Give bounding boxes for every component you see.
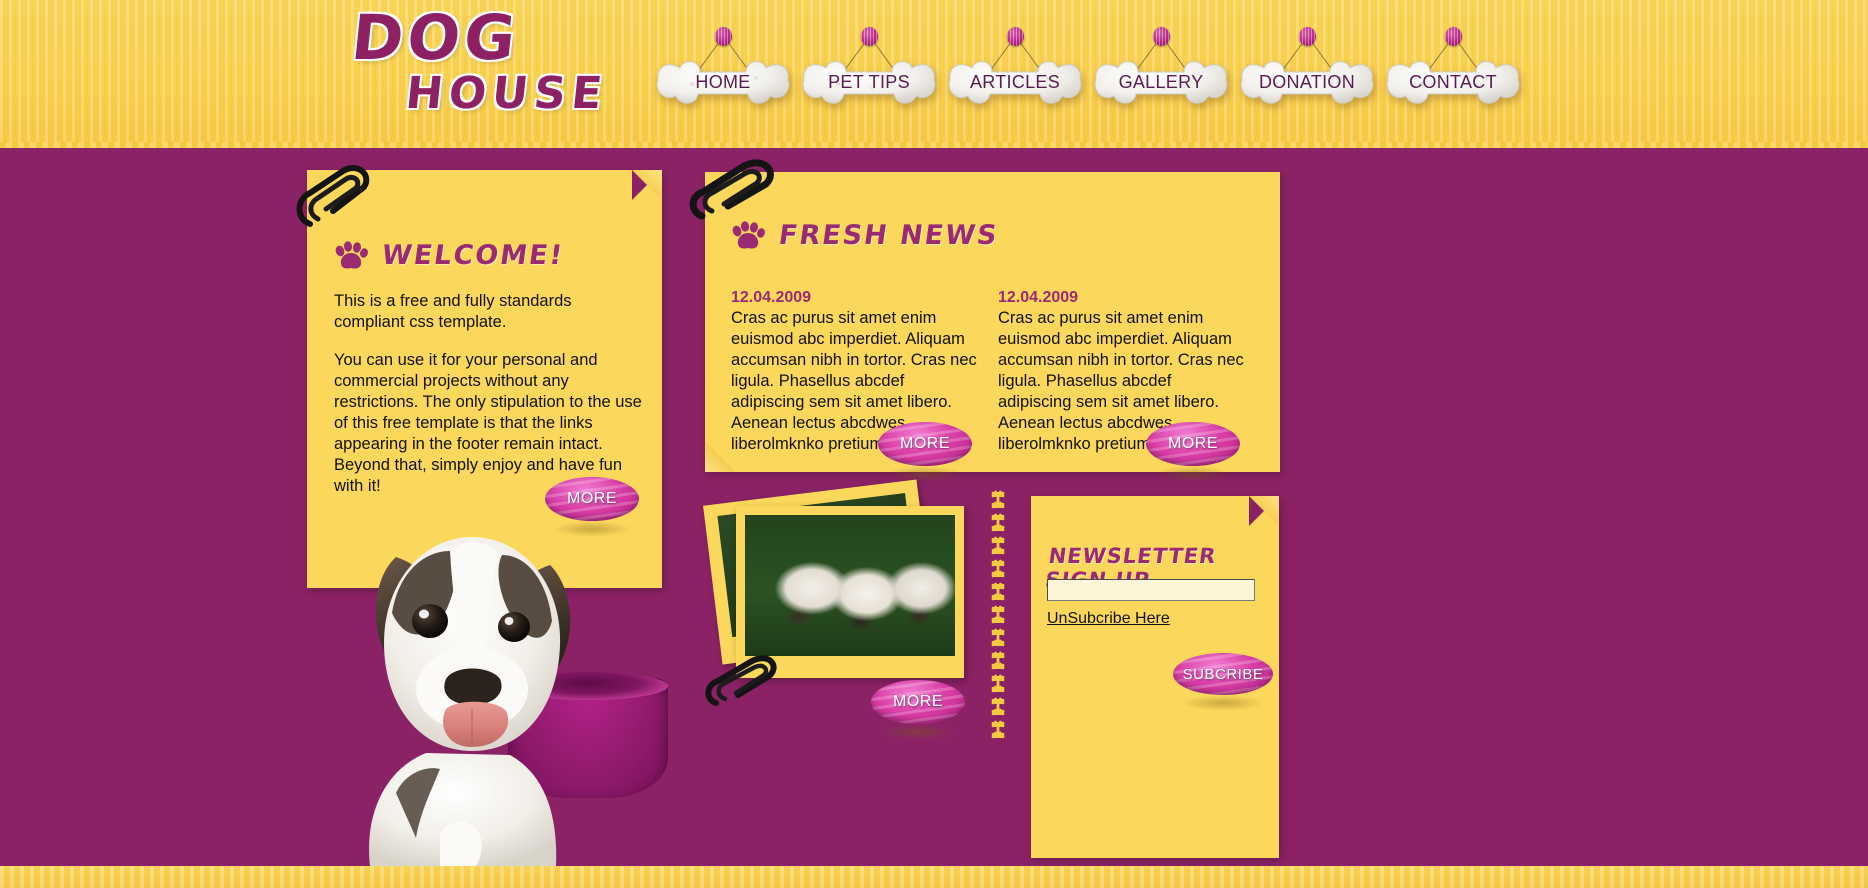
bone-divider-item [991,674,1005,694]
news-more-label: MORE [1146,422,1240,466]
footer-strip [0,866,1868,888]
nav-item-label: ARTICLES [942,72,1088,93]
subscribe-shadow [1181,695,1265,711]
main-content: WELCOME! This is a free and fully standa… [0,148,1868,866]
puppy-photo [300,493,620,866]
gallery-more-button[interactable]: MORE [871,680,965,724]
bone-divider [991,490,1005,740]
bone-divider-item [991,490,1005,510]
nav-item-label: PET TIPS [796,72,942,93]
nav-item-label: DONATION [1234,72,1380,93]
logo-text-dog: DOG [347,6,594,70]
pin-icon [715,27,732,46]
gallery-photo-front-image [745,515,955,656]
pin-icon [1007,27,1024,46]
news-title: FRESH NEWS [777,220,1001,251]
news-card: FRESH NEWS 12.04.2009 Cras ac purus sit … [705,172,1280,472]
bone-divider-item [991,559,1005,579]
bone-divider-item [991,720,1005,740]
pin-icon [1153,27,1170,46]
subscribe-button[interactable]: SUBCRIBE [1173,653,1273,695]
gallery-photo-front[interactable] [736,506,964,678]
news-date: 12.04.2009 [731,289,981,307]
welcome-paragraph-1: This is a free and fully standards compl… [334,291,644,333]
gallery-more-shadow [879,724,958,740]
nav-item-donation[interactable]: DONATION [1234,10,1380,130]
news-date: 12.04.2009 [998,289,1248,307]
news-more-shadow [886,466,965,482]
bone-divider-item [991,582,1005,602]
paw-print-icon [334,241,368,271]
news-more-button-2[interactable]: MORE [1146,422,1240,466]
news-more-shadow [1154,466,1233,482]
nav-item-gallery[interactable]: GALLERY [1088,10,1234,130]
bone-divider-item [991,651,1005,671]
bone-divider-item [991,513,1005,533]
bone-divider-item [991,628,1005,648]
nav-item-pet-tips[interactable]: PET TIPS [796,10,942,130]
pin-icon [861,27,878,46]
unsubscribe-link[interactable]: UnSubcribe Here [1047,610,1170,628]
logo-text-house: HOUSE [347,70,592,118]
gallery-more-label: MORE [871,680,965,724]
bone-divider-item [991,536,1005,556]
subscribe-label: SUBCRIBE [1173,653,1273,695]
bone-divider-item [991,605,1005,625]
bone-divider-item [991,697,1005,717]
welcome-title: WELCOME! [380,240,566,271]
welcome-paragraph-2: You can use it for your personal and com… [334,350,644,497]
welcome-heading: WELCOME! [334,240,644,271]
nav-item-contact[interactable]: CONTACT [1380,10,1526,130]
news-more-label: MORE [878,422,972,466]
nav-item-label: HOME [650,72,796,93]
site-logo[interactable]: DOG HOUSE [350,6,590,126]
newsletter-email-input[interactable] [1047,579,1255,601]
pin-icon [1299,27,1316,46]
nav-item-label: CONTACT [1380,72,1526,93]
main-navigation: HOMEPET TIPSARTICLESGALLERYDONATIONCONTA… [650,10,1526,130]
paw-print-icon [731,221,765,251]
nav-item-home[interactable]: HOME [650,10,796,130]
nav-item-articles[interactable]: ARTICLES [942,10,1088,130]
newsletter-card: NEWSLETTER SIGN UP UnSubcribe Here SUBCR… [1031,496,1279,858]
news-more-button-1[interactable]: MORE [878,422,972,466]
news-heading: FRESH NEWS [731,220,998,251]
nav-item-label: GALLERY [1088,72,1234,93]
pin-icon [1445,27,1462,46]
site-header: DOG HOUSE HOMEPET TIPSARTICLESGALLERYDON… [0,0,1868,148]
